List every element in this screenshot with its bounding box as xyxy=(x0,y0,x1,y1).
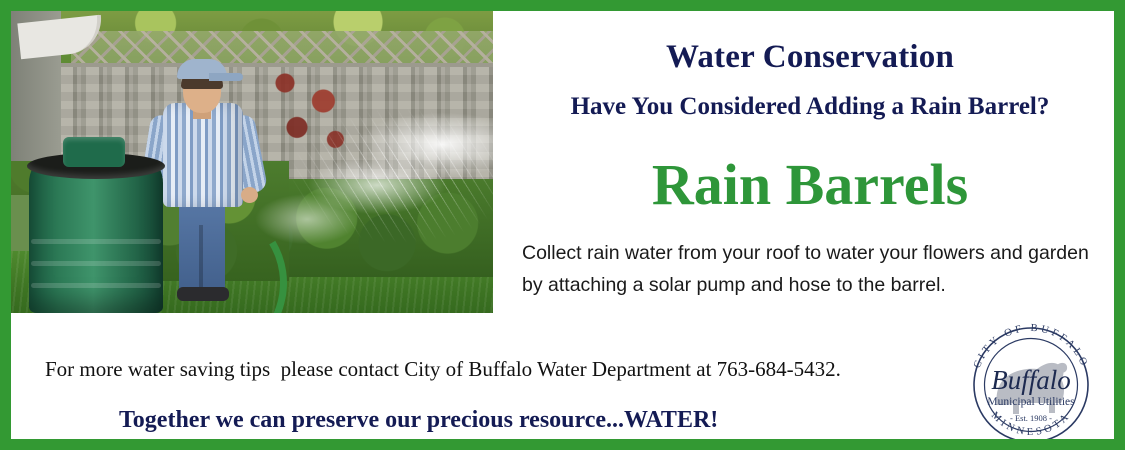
page-title: Water Conservation xyxy=(506,39,1114,76)
seal-name: Buffalo xyxy=(991,365,1071,395)
tagline: Together we can preserve our precious re… xyxy=(119,407,718,434)
rain-barrels-heading: Rain Barrels xyxy=(506,156,1114,214)
photo-person-cap-brim xyxy=(209,73,243,81)
photo-climbing-plant xyxy=(249,53,369,173)
rain-barrel-flyer: Water Conservation Have You Considered A… xyxy=(0,0,1125,450)
page-subtitle: Have You Considered Adding a Rain Barrel… xyxy=(506,93,1114,121)
contact-line: For more water saving tips please contac… xyxy=(45,357,841,382)
photo-solar-pump xyxy=(63,137,125,167)
rain-barrel-photo xyxy=(11,11,493,313)
buffalo-municipal-utilities-seal: CITY OF BUFFALO MINNESOTA Buffalo Munici… xyxy=(961,313,1101,445)
seal-subtitle: Municipal Utilities xyxy=(987,396,1075,408)
seal-established: - Est. 1908 - xyxy=(1010,413,1052,423)
body-paragraph: Collect rain water from your roof to wat… xyxy=(522,237,1102,301)
photo-rain-barrel xyxy=(29,161,163,313)
